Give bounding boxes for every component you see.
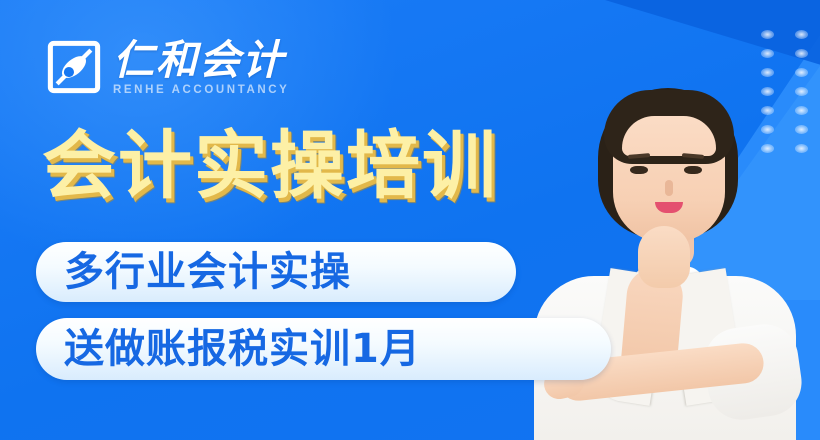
feature-pill-1[interactable]: 多行业会计实操 (36, 242, 516, 302)
brand-name-english: RENHE ACCOUNTANCY (113, 83, 289, 97)
presenter-eye-left (630, 166, 648, 174)
page-title: 会计实操培训 (42, 125, 498, 207)
presenter-hair-front (604, 90, 734, 164)
feature-pill-1-label: 多行业会计实操 (64, 252, 351, 292)
dot (795, 68, 808, 77)
renhe-square-swoosh-icon (47, 40, 101, 94)
dot (761, 68, 774, 77)
feature-pill-2-label: 送做账报税实训1月 (64, 329, 421, 369)
brand-logo-text: 仁和会计 RENHE ACCOUNTANCY (113, 38, 289, 97)
dot (795, 49, 808, 58)
brand-name-chinese: 仁和会计 (113, 38, 289, 82)
dot (761, 30, 774, 39)
promo-banner: 仁和会计 RENHE ACCOUNTANCY 会计实操培训 多行业会计实操 送做… (0, 0, 820, 440)
feature-pill-2[interactable]: 送做账报税实训1月 (36, 318, 611, 380)
presenter-eye-right (684, 166, 702, 174)
presenter-nose (665, 180, 673, 196)
dot (761, 49, 774, 58)
presenter-hand-at-chin (638, 226, 690, 288)
presenter-photo (530, 80, 800, 440)
dot (795, 30, 808, 39)
brand-logo[interactable]: 仁和会计 RENHE ACCOUNTANCY (47, 40, 289, 97)
